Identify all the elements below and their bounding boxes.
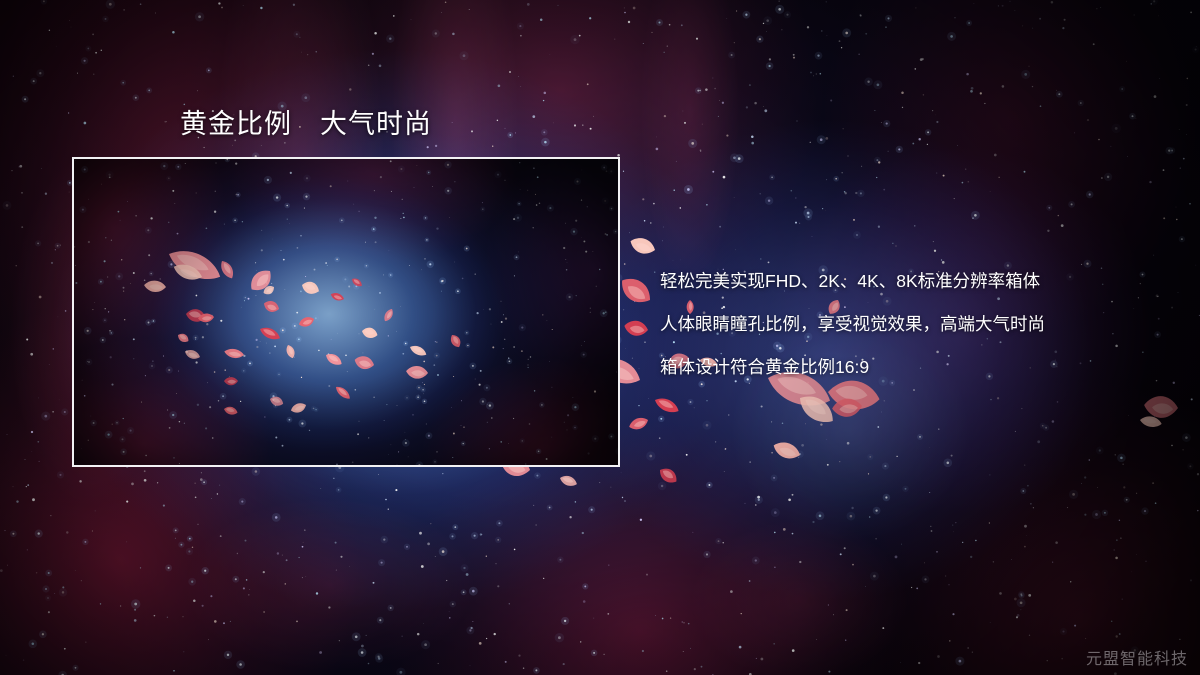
- picture-vignette: [74, 159, 618, 465]
- body-line-1: 轻松完美实现FHD、2K、4K、8K标准分辨率箱体: [660, 260, 1180, 303]
- body-line-2: 人体眼睛瞳孔比例，享受视觉效果，高端大气时尚: [660, 303, 1180, 346]
- framed-picture: [72, 157, 620, 467]
- body-line-3: 箱体设计符合黄金比例16:9: [660, 346, 1180, 389]
- body-copy: 轻松完美实现FHD、2K、4K、8K标准分辨率箱体 人体眼睛瞳孔比例，享受视觉效…: [660, 260, 1180, 389]
- watermark: 元盟智能科技: [1086, 645, 1188, 669]
- page-title: 黄金比例 大气时尚: [180, 102, 432, 141]
- slide-canvas: 黄金比例 大气时尚 轻松完美实现FHD、2K、4K、8K标准分辨率箱体 人体眼睛…: [0, 0, 1200, 675]
